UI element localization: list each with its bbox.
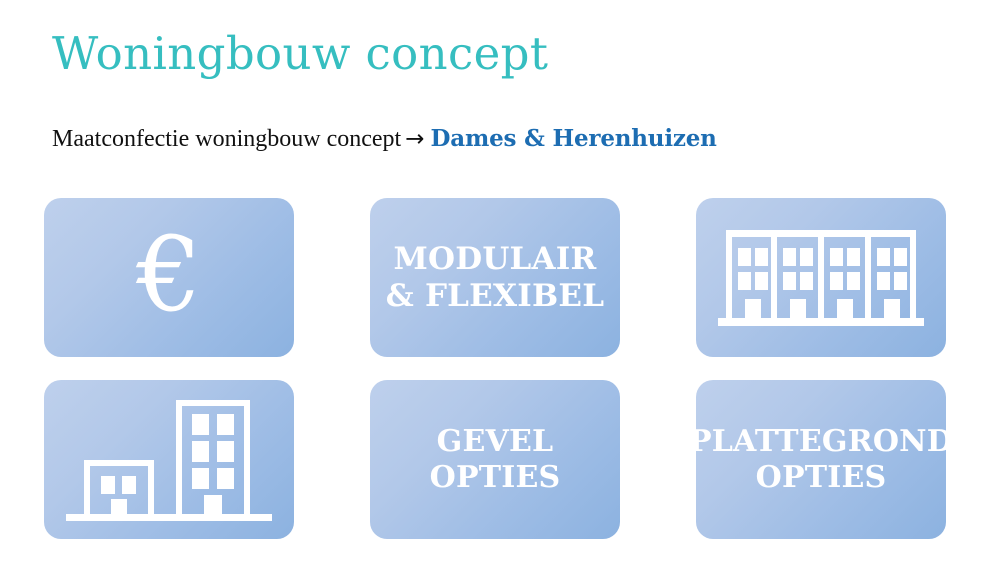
tile-modular[interactable]: MODULAIR & FLEXIBEL — [370, 198, 620, 357]
tile-floorplan-options-label-line1: PLATTEGROND — [696, 424, 946, 459]
tile-modular-label: MODULAIR & FLEXIBEL — [376, 241, 614, 314]
tile-modular-label-line2: & FLEXIBEL — [386, 278, 604, 315]
slide-canvas: Woningbouw concept Maatconfectie woningb… — [0, 0, 1000, 562]
tile-facade-options-label-line1: GEVEL — [430, 424, 561, 459]
tile-buildings[interactable] — [44, 380, 294, 539]
tile-facade-options-label: GEVEL OPTIES — [420, 424, 571, 495]
subtitle-lead-text: Maatconfectie woningbouw concept — [52, 126, 401, 152]
tile-floorplan-options-label-line2: OPTIES — [696, 460, 946, 495]
tile-floorplan-options-label: PLATTEGROND OPTIES — [696, 424, 946, 495]
euro-icon: € — [136, 224, 202, 327]
subtitle-accent-text: Dames & Herenhuizen — [431, 125, 717, 152]
right-arrow-icon: → — [405, 124, 424, 154]
page-title: Woningbouw concept — [52, 24, 548, 84]
tile-price[interactable]: € — [44, 198, 294, 357]
tile-terraced-houses[interactable] — [696, 198, 946, 357]
subtitle: Maatconfectie woningbouw concept→Dames &… — [52, 124, 717, 154]
tile-facade-options-label-line2: OPTIES — [430, 460, 561, 495]
terraced-houses-icon — [718, 226, 924, 330]
tile-grid: € MODULAIR & FLEXIBEL — [44, 198, 946, 546]
buildings-icon — [66, 394, 272, 526]
tile-facade-options[interactable]: GEVEL OPTIES — [370, 380, 620, 539]
tile-floorplan-options[interactable]: PLATTEGROND OPTIES — [696, 380, 946, 539]
tile-modular-label-line1: MODULAIR — [386, 241, 604, 278]
